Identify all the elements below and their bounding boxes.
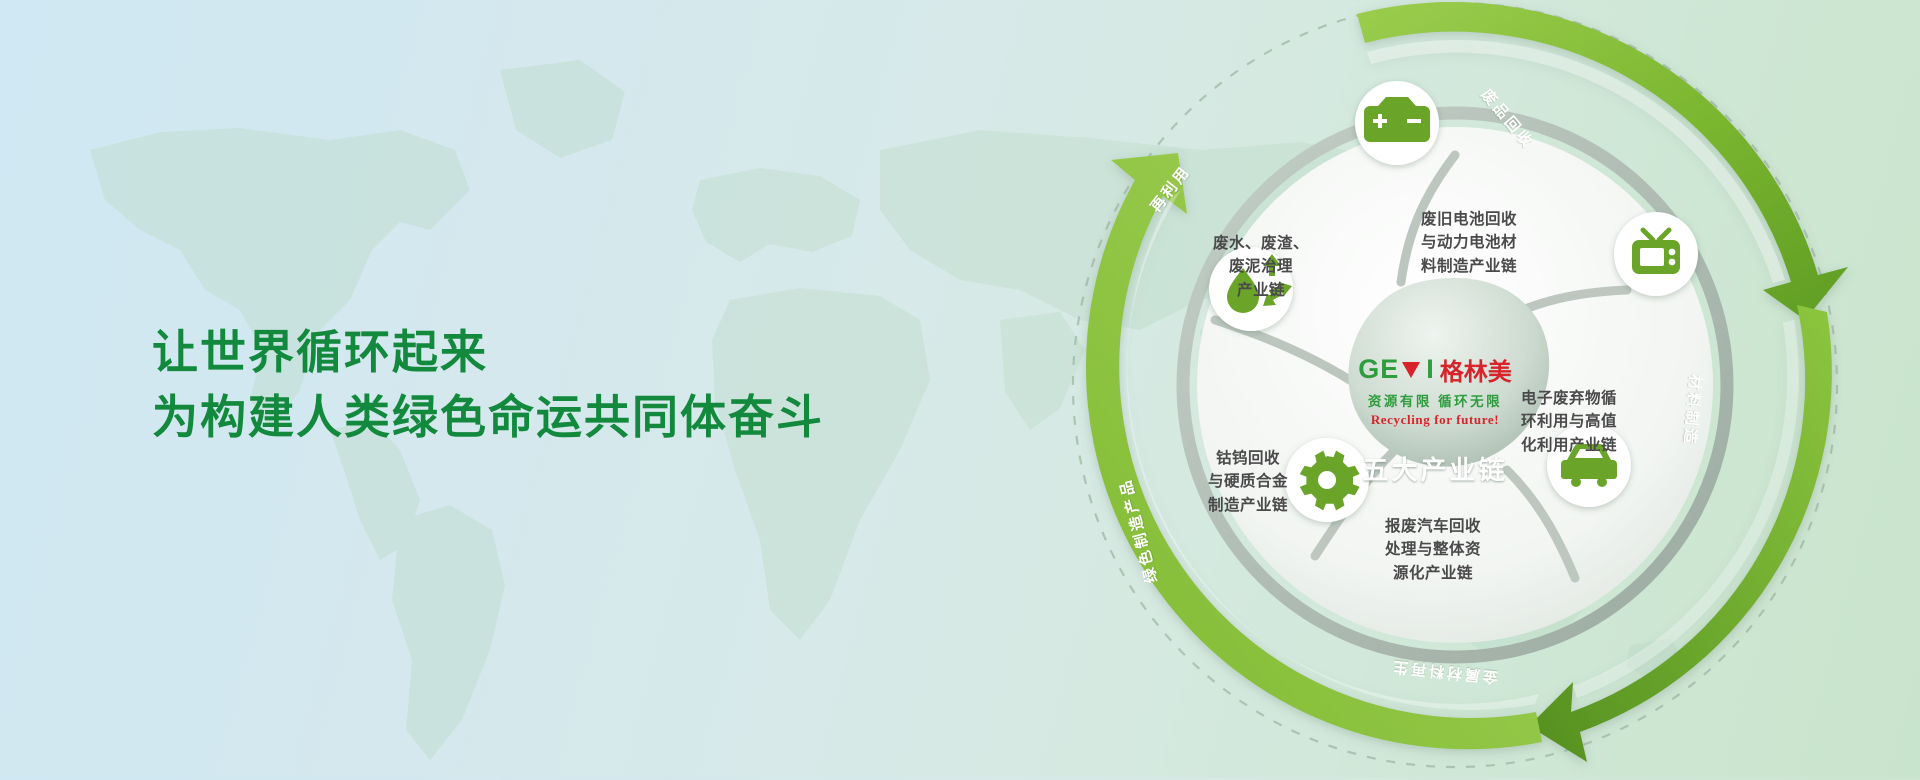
headline-line-2: 为构建人类绿色命运共同体奋斗 <box>152 385 824 450</box>
headline-line-1: 让世界循环起来 <box>152 320 824 385</box>
recycle-water-icon <box>1209 247 1293 331</box>
headline: 让世界循环起来 为构建人类绿色命运共同体奋斗 <box>152 320 824 451</box>
television-icon <box>1614 212 1698 296</box>
gear-icon <box>1285 438 1369 522</box>
five-industrial-chains-diagram <box>1015 0 1895 780</box>
battery-icon <box>1355 81 1439 165</box>
car-icon <box>1547 423 1631 507</box>
segments-group <box>1197 127 1713 643</box>
